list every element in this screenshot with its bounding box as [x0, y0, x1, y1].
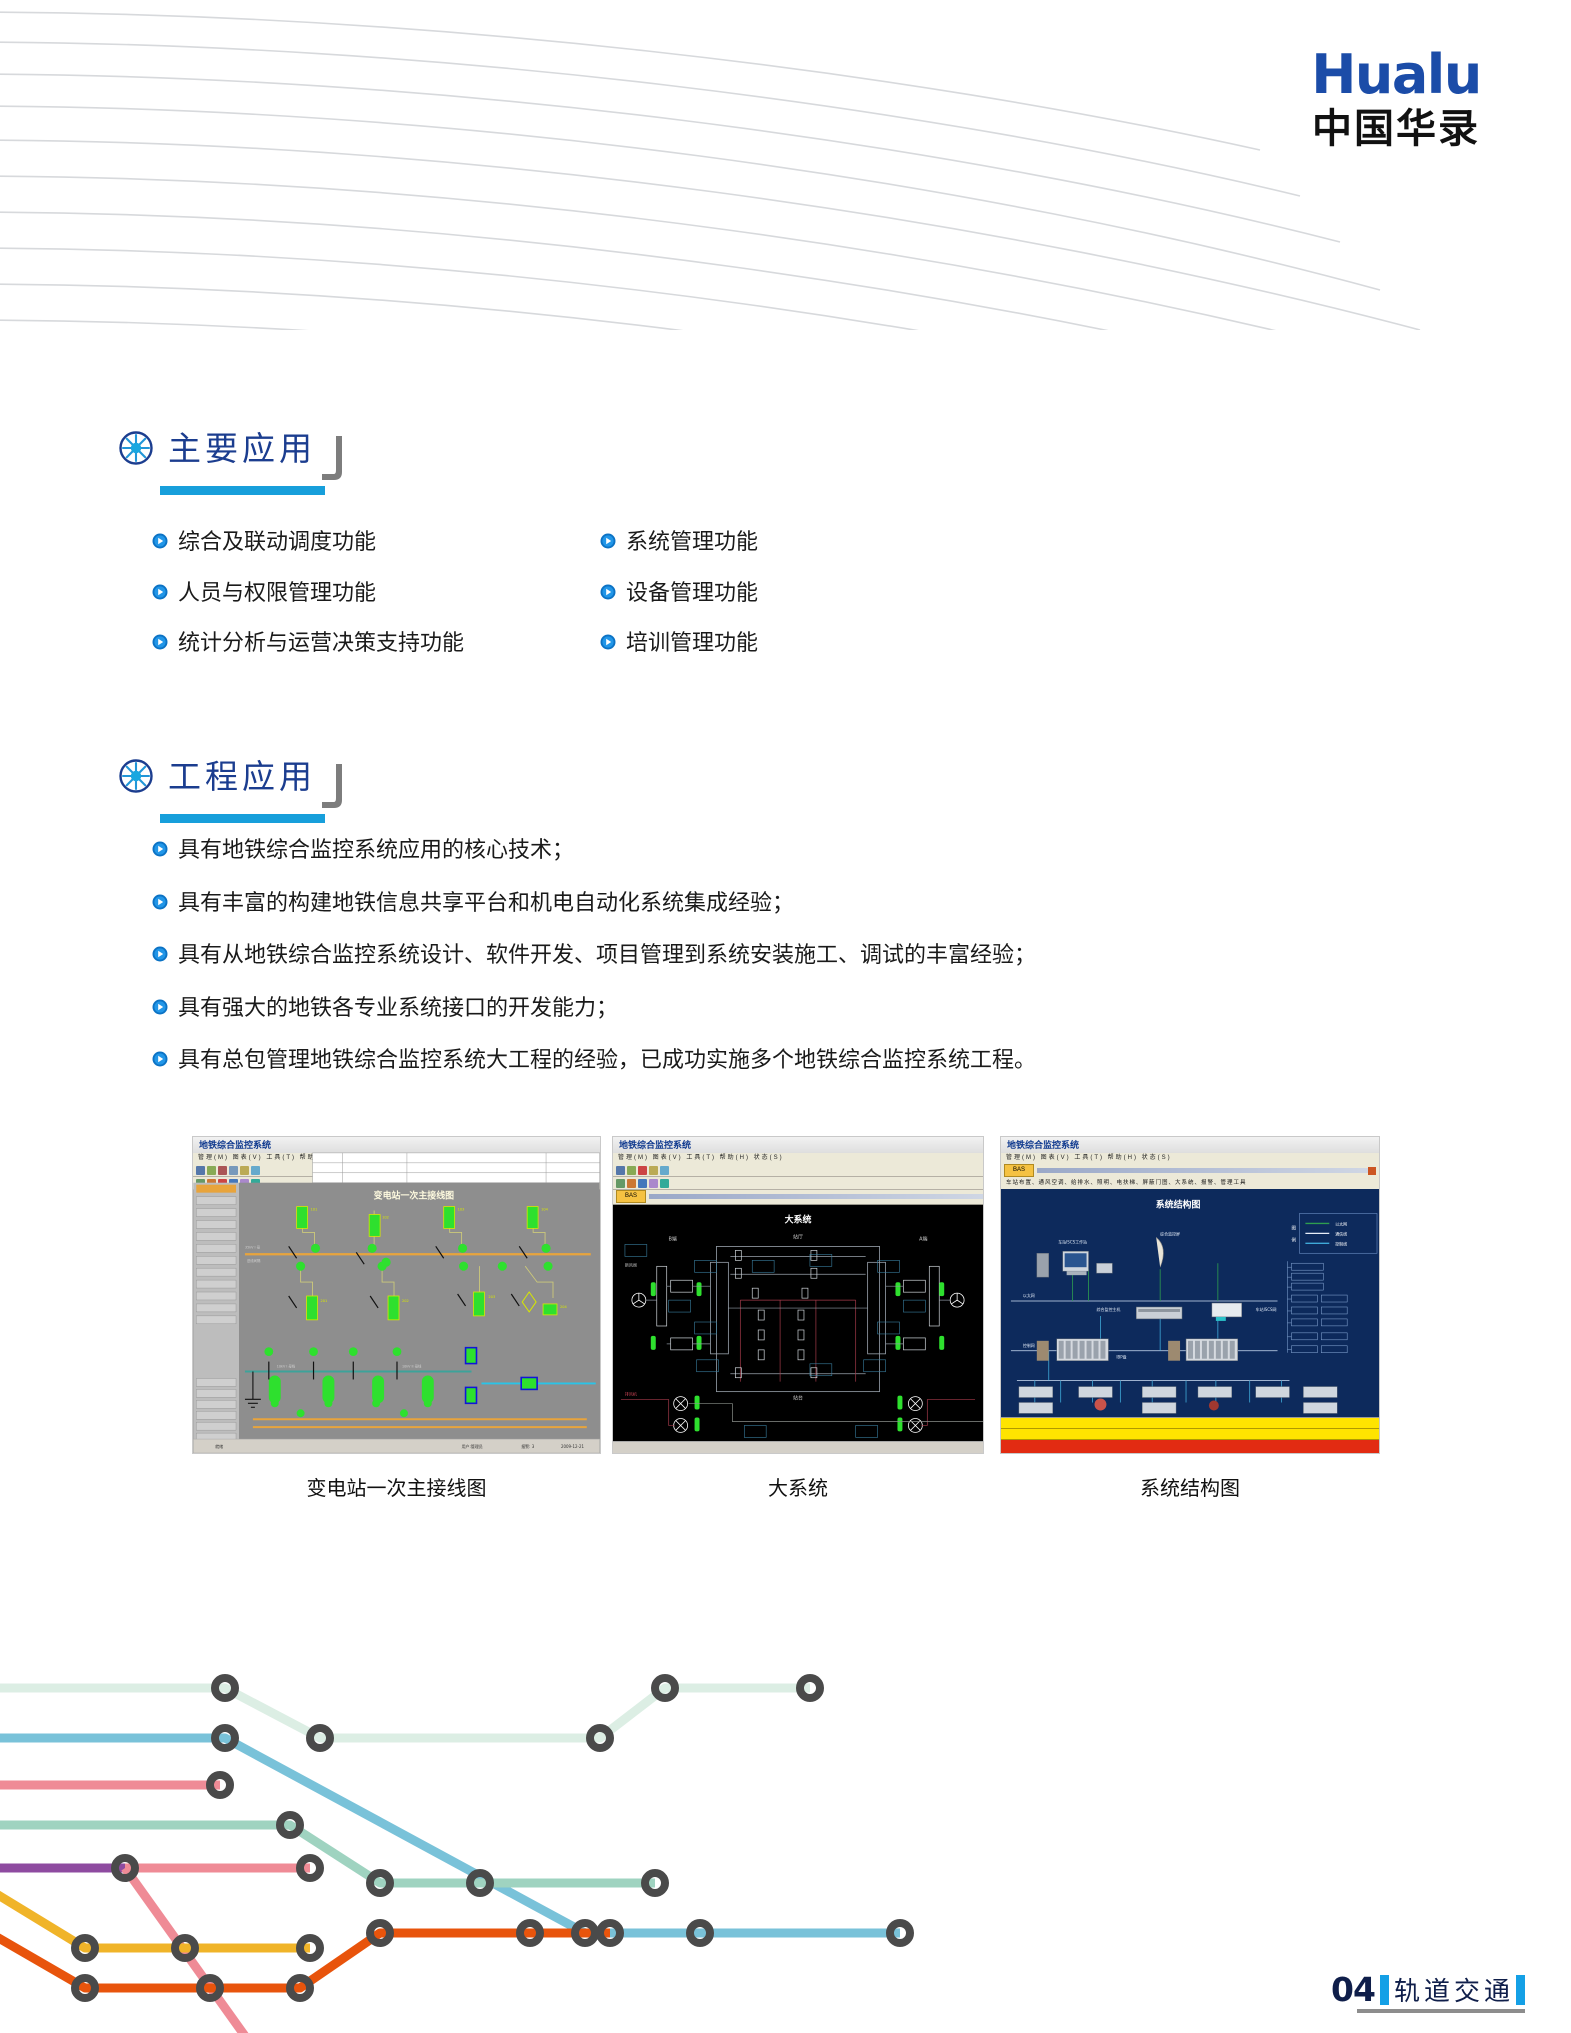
play-bullet-icon: [600, 584, 616, 600]
toolbar-icon[interactable]: [649, 1166, 658, 1175]
svg-text:车站ISCS工作站: 车站ISCS工作站: [1058, 1239, 1087, 1244]
footer-bar-right: [1516, 1975, 1525, 2005]
list-item: 培训管理功能: [600, 629, 758, 657]
toolbar-icon[interactable]: [627, 1179, 636, 1188]
tab-bas[interactable]: BAS: [616, 1190, 646, 1203]
toolbar-icon[interactable]: [627, 1166, 636, 1175]
screenshot-substation-diagram: 地铁综合监控系统 管理(M) 图表(V) 工具(T) 帮助(H) 状态(S): [192, 1136, 601, 1454]
list-item: 设备管理功能: [600, 579, 758, 607]
brand-logo: Hualu 中国华录: [1276, 48, 1516, 152]
svg-text:IBP盘: IBP盘: [1116, 1355, 1126, 1360]
brand-chinese-name: 中国华录: [1276, 106, 1516, 152]
svg-text:排风机: 排风机: [625, 1392, 637, 1397]
tab-strip-filler: [649, 1194, 983, 1199]
play-bullet-icon: [152, 634, 168, 650]
list-item-label: 综合及联动调度功能: [178, 528, 376, 556]
list-item: 统计分析与运营决策支持功能: [152, 629, 464, 657]
footer-rule: [1357, 2009, 1525, 2013]
svg-text:控制网: 控制网: [1023, 1343, 1035, 1348]
list-item-label: 培训管理功能: [626, 629, 758, 657]
svg-text:进线间隔: 进线间隔: [247, 1258, 261, 1263]
footer-label: 轨道交通: [1394, 1978, 1514, 2005]
list-item: 人员与权限管理功能: [152, 579, 464, 607]
play-bullet-icon: [152, 584, 168, 600]
heading-bracket-decoration: [322, 764, 350, 812]
list-item: 具有总包管理地铁综合监控系统大工程的经验，已成功实施多个地铁综合监控系统工程。: [152, 1046, 1036, 1074]
svg-text:系统结构图: 系统结构图: [1156, 1199, 1201, 1211]
svg-text:201: 201: [320, 1299, 327, 1303]
brochure-page: Hualu 中国华录 主要应用 综合及联动调度功能: [0, 0, 1571, 2033]
list-item-label: 系统管理功能: [626, 528, 758, 556]
heading-underline: [160, 814, 325, 823]
list-item: 具有地铁综合监控系统应用的核心技术；: [152, 836, 1036, 864]
svg-text:综合监控主机: 综合监控主机: [1097, 1307, 1121, 1312]
bas-window: 地铁综合监控系统 管理(M) 图表(V) 工具(T) 帮助(H) 状态(S) B…: [612, 1136, 984, 1454]
heading-bracket-decoration: [322, 436, 350, 484]
toolbar-icon[interactable]: [649, 1179, 658, 1188]
play-bullet-icon: [152, 999, 168, 1015]
svg-text:10kV I 母线: 10kV I 母线: [277, 1364, 296, 1369]
list-item: 系统管理功能: [600, 528, 758, 556]
bas-tab-strip: BAS: [613, 1190, 983, 1203]
screenshot-caption: 变电站一次主接线图: [192, 1472, 601, 1501]
list-item: 具有从地铁综合监控系统设计、软件开发、项目管理到系统安装施工、调试的丰富经验；: [152, 941, 1036, 969]
list-item-label: 人员与权限管理功能: [178, 579, 376, 607]
svg-text:A端: A端: [919, 1235, 927, 1242]
play-bullet-icon: [152, 533, 168, 549]
section-heading-engineering-applications: 工程应用: [118, 758, 316, 794]
svg-text:报警: 3: 报警: 3: [521, 1444, 535, 1449]
list-item-label: 具有丰富的构建地铁信息共享平台和机电自动化系统集成经验；: [178, 889, 794, 917]
svg-text:102: 102: [382, 1215, 389, 1219]
play-bullet-icon: [600, 634, 616, 650]
architecture-toolbar-labels[interactable]: 车站布置、通风空调、给排水、照明、电扶梯、屏蔽门图、大系统、报警、管理工具: [1001, 1177, 1379, 1189]
list-item-label: 具有强大的地铁各专业系统接口的开发能力；: [178, 994, 618, 1022]
list-item-label: 设备管理功能: [626, 579, 758, 607]
toolbar-icon[interactable]: [638, 1166, 647, 1175]
svg-text:图: 图: [1291, 1225, 1296, 1231]
svg-text:以太网: 以太网: [1335, 1221, 1347, 1226]
footer-bar-left: [1380, 1975, 1389, 2005]
section-heading-main-applications: 主要应用: [118, 430, 316, 466]
alarm-row-warning[interactable]: [1001, 1418, 1379, 1429]
svg-text:就绪: 就绪: [215, 1444, 223, 1449]
svg-text:202: 202: [402, 1299, 409, 1303]
page-number: 04: [1331, 1974, 1375, 2005]
alarm-icon[interactable]: [1368, 1167, 1376, 1175]
toolbar-icon[interactable]: [638, 1179, 647, 1188]
hvac-large-system-diagram: 大系统 B端 A端 站厅 站台: [613, 1204, 983, 1443]
svg-text:B端: B端: [668, 1235, 676, 1242]
metro-map-graphic: [0, 1603, 1571, 2033]
screenshot-system-architecture: 地铁综合监控系统 管理(M) 图表(V) 工具(T) 帮助(H) 状态(S) B…: [1000, 1136, 1380, 1454]
alarm-row-warning[interactable]: [1001, 1429, 1379, 1440]
toolbar-icon[interactable]: [616, 1179, 625, 1188]
toolbar-icon[interactable]: [660, 1166, 669, 1175]
play-bullet-icon: [152, 841, 168, 857]
svg-text:104: 104: [541, 1208, 549, 1212]
list-item-label: 具有总包管理地铁综合监控系统大工程的经验，已成功实施多个地铁综合监控系统工程。: [178, 1046, 1036, 1074]
brand-wordmark: Hualu: [1276, 48, 1516, 102]
alarm-row-critical[interactable]: [1001, 1440, 1379, 1453]
main-applications-column-2: 系统管理功能 设备管理功能 培训管理功能: [600, 528, 758, 657]
heading-underline: [160, 486, 325, 495]
section-title: 主要应用: [168, 432, 316, 465]
starburst-icon: [118, 758, 154, 794]
svg-text:以太网: 以太网: [1023, 1293, 1035, 1298]
window-title-bar: 地铁综合监控系统: [613, 1137, 983, 1153]
window-menu-bar: 管理(M) 图表(V) 工具(T) 帮助(H) 状态(S): [613, 1153, 983, 1164]
toolbar-icon[interactable]: [616, 1166, 625, 1175]
main-applications-column-1: 综合及联动调度功能 人员与权限管理功能 统计分析与运营决策支持功能: [152, 528, 464, 657]
list-item: 具有强大的地铁各专业系统接口的开发能力；: [152, 994, 1036, 1022]
window-menu-bar: 管理(M) 图表(V) 工具(T) 帮助(H) 状态(S): [1001, 1153, 1379, 1164]
list-item-label: 具有从地铁综合监控系统设计、软件开发、项目管理到系统安装施工、调试的丰富经验；: [178, 941, 1036, 969]
screenshot-bas-large-system: 地铁综合监控系统 管理(M) 图表(V) 工具(T) 帮助(H) 状态(S) B…: [612, 1136, 984, 1454]
svg-text:204: 204: [560, 1305, 568, 1309]
play-bullet-icon: [152, 946, 168, 962]
svg-text:通信线: 通信线: [1335, 1231, 1347, 1236]
screenshot-caption: 系统结构图: [1000, 1472, 1380, 1501]
tab-strip-filler: [1037, 1168, 1368, 1173]
svg-text:车站ISCS网: 车站ISCS网: [1256, 1307, 1277, 1312]
svg-text:35kV I 母: 35kV I 母: [245, 1245, 261, 1249]
list-item: 具有丰富的构建地铁信息共享平台和机电自动化系统集成经验；: [152, 889, 1036, 917]
svg-text:大系统: 大系统: [785, 1214, 812, 1226]
svg-text:103: 103: [458, 1208, 465, 1212]
alarm-table: [1001, 1417, 1379, 1453]
list-item-label: 具有地铁综合监控系统应用的核心技术；: [178, 836, 574, 864]
svg-text:用户:管理员: 用户:管理员: [462, 1444, 483, 1449]
system-architecture-diagram: 系统结构图 以太网 通信线 控制线 图 例: [1001, 1191, 1379, 1419]
starburst-icon: [118, 430, 154, 466]
bas-tab-strip: BAS: [1001, 1164, 1379, 1177]
svg-text:例: 例: [1291, 1236, 1296, 1243]
svg-text:2009-12-21: 2009-12-21: [561, 1444, 585, 1449]
screenshot-caption: 大系统: [612, 1472, 984, 1501]
svg-text:站台: 站台: [793, 1395, 803, 1402]
svg-text:站厅: 站厅: [793, 1233, 803, 1240]
toolbar-icon[interactable]: [660, 1179, 669, 1188]
svg-text:203: 203: [488, 1295, 495, 1299]
tab-bas[interactable]: BAS: [1004, 1164, 1034, 1177]
architecture-window: 地铁综合监控系统 管理(M) 图表(V) 工具(T) 帮助(H) 状态(S) B…: [1000, 1136, 1380, 1454]
window-toolbar-row-2: [613, 1177, 983, 1190]
svg-text:101: 101: [311, 1208, 318, 1212]
play-bullet-icon: [600, 533, 616, 549]
play-bullet-icon: [152, 894, 168, 910]
window-title-bar: 地铁综合监控系统: [1001, 1137, 1379, 1153]
list-item-label: 统计分析与运营决策支持功能: [178, 629, 464, 657]
svg-text:10kV II 母线: 10kV II 母线: [402, 1364, 422, 1369]
section-title: 工程应用: [168, 760, 316, 793]
play-bullet-icon: [152, 1051, 168, 1067]
list-item: 综合及联动调度功能: [152, 528, 464, 556]
status-bar: [613, 1441, 983, 1453]
svg-text:变电站一次主接线图: 变电站一次主接线图: [374, 1190, 455, 1202]
page-footer: 04 轨道交通: [1331, 1974, 1525, 2005]
svg-text:综合监控屏: 综合监控屏: [1160, 1231, 1180, 1236]
svg-text:新风阀: 新风阀: [625, 1262, 637, 1267]
engineering-applications-list: 具有地铁综合监控系统应用的核心技术； 具有丰富的构建地铁信息共享平台和机电自动化…: [152, 836, 1036, 1074]
scada-window: 地铁综合监控系统 管理(M) 图表(V) 工具(T) 帮助(H) 状态(S): [192, 1136, 601, 1454]
substation-single-line-diagram: 变电站一次主接线图: [193, 1137, 600, 1453]
svg-text:控制线: 控制线: [1335, 1241, 1347, 1246]
window-toolbar-row-1: [613, 1164, 983, 1177]
